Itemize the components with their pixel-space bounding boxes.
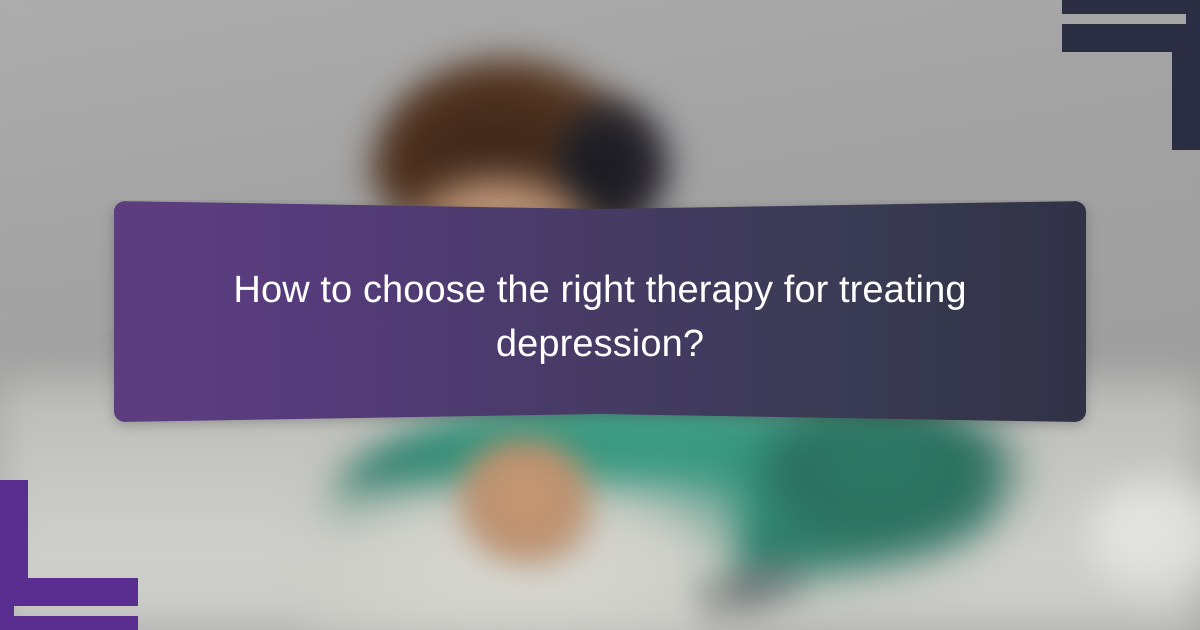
share-card: How to choose the right therapy for trea… <box>0 0 1200 630</box>
background-person-hand-secondary <box>368 495 478 575</box>
banner-title-text: How to choose the right therapy for trea… <box>100 200 1100 436</box>
title-banner: How to choose the right therapy for trea… <box>100 200 1100 436</box>
page-title: How to choose the right therapy for trea… <box>205 264 995 372</box>
